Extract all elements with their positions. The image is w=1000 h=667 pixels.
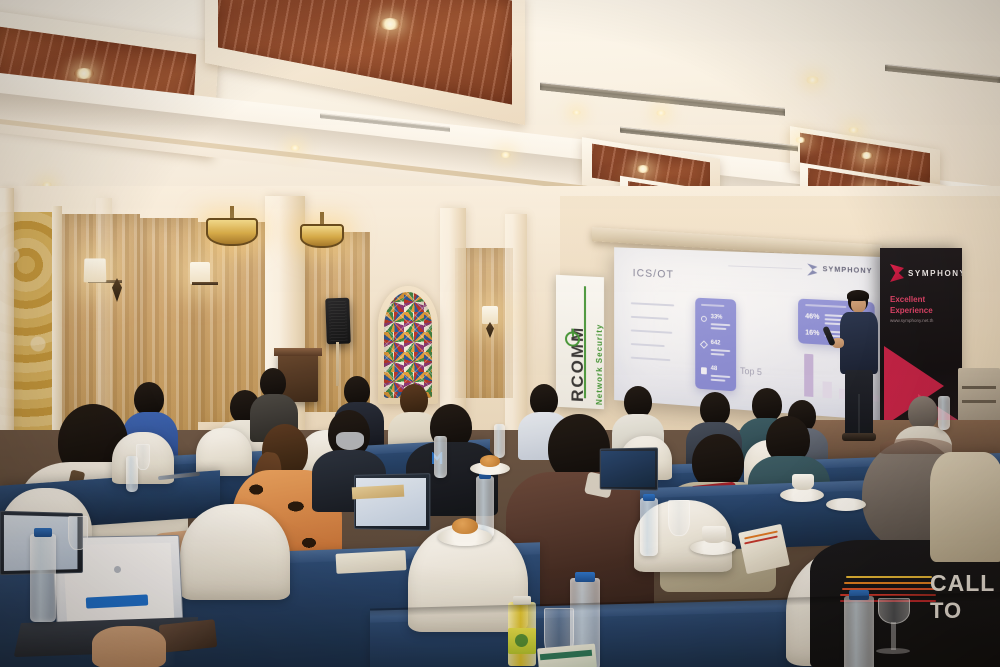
- pastry-1: [452, 518, 478, 534]
- slide-ghost-line-1: [631, 302, 674, 306]
- water-bottle-4[interactable]: [844, 596, 874, 667]
- water-bottle-8[interactable]: [938, 396, 950, 430]
- conference-room-photo: ICS/OT SYMPHONY 33% 642 48: [0, 0, 1000, 667]
- water-bottle-1-cap[interactable]: [34, 528, 52, 537]
- laptop-front-left-cursor-dot: [114, 566, 121, 573]
- slide-bar-2: [823, 381, 832, 398]
- water-bottle-5[interactable]: [640, 498, 658, 556]
- pastry-2: [480, 455, 500, 467]
- wall-column-5: [505, 214, 527, 434]
- downlight-11: [572, 110, 581, 115]
- stat-label-bar-3a: [711, 375, 731, 378]
- notepad-mid[interactable]: [336, 550, 407, 574]
- slide-symphony-logo-icon: [806, 262, 818, 277]
- attendee-far-11-head: [908, 396, 938, 430]
- front-left-attendee-hand: [92, 626, 166, 667]
- saucer-right-1: [780, 488, 824, 502]
- drinking-glass-2-base: [876, 648, 910, 654]
- banner-rcomm: RCOMM Network Security: [556, 275, 604, 410]
- laptop-rear-screen-content: [601, 451, 655, 487]
- slide-chart-caption: Top 5: [740, 366, 762, 377]
- presenter-hair: [847, 290, 869, 301]
- slide-title: ICS/OT: [633, 267, 674, 281]
- chair-far-1: [196, 428, 252, 476]
- stat-value-3: 48: [711, 366, 718, 372]
- slide-header-rule: [728, 265, 802, 269]
- chair-front-1: [180, 504, 290, 600]
- call-to-stripe-2: [844, 582, 934, 584]
- stat-label-bar-3b: [711, 379, 726, 382]
- downlight-14: [290, 145, 300, 151]
- banner-rcomm-green-rule: [584, 286, 586, 398]
- hanging-lantern-2: [300, 224, 344, 248]
- downlight-7: [806, 76, 819, 84]
- banner-symphony-url: www.symphony.net.th: [890, 318, 933, 323]
- mid-attendee-1-mask: [336, 432, 364, 450]
- presenter-leg-split: [858, 394, 860, 436]
- downlight-3: [636, 165, 650, 173]
- banner-rcomm-tagline: Network Security: [595, 323, 604, 405]
- downlight-12: [848, 127, 859, 133]
- water-bottle-7[interactable]: [494, 424, 505, 458]
- slide-ghost-line-3: [631, 329, 672, 333]
- slide-ghost-line-4: [631, 343, 665, 347]
- sconce-shade-left: [84, 258, 107, 282]
- water-bottle-6[interactable]: [434, 436, 447, 478]
- wall-column-1: [0, 188, 14, 456]
- banner-symphony-brand: SYMPHONY: [908, 269, 962, 278]
- stat-value-2: 642: [711, 340, 721, 347]
- presenter: [832, 290, 888, 442]
- coffee-cup-1[interactable]: [792, 474, 814, 490]
- drinking-glass-4[interactable]: [68, 516, 88, 550]
- banner-symphony-logo-icon: [890, 264, 904, 282]
- water-bottle-3-cap[interactable]: [575, 572, 595, 582]
- sconce-shade-center: [190, 262, 210, 284]
- attendee-far-9-head: [700, 392, 730, 426]
- slide-ghost-line-5: [631, 357, 671, 362]
- curtain-center: [198, 222, 272, 422]
- handout-paper[interactable]: [738, 524, 790, 574]
- slide-bar-1: [804, 354, 813, 397]
- water-bottle-1[interactable]: [30, 534, 56, 622]
- mosaic-arch-panel: [384, 292, 432, 398]
- presenter-shoes: [842, 433, 876, 441]
- sconce-arm-center: [192, 282, 218, 285]
- drinking-glass-5[interactable]: [136, 444, 150, 470]
- callout-value-2: 16%: [805, 329, 819, 337]
- stat-label-bar-1a: [711, 323, 731, 326]
- av-rack-panel-line-2: [962, 400, 996, 403]
- slide-ghost-line-2: [631, 316, 669, 320]
- attendee-far-8-head: [752, 388, 782, 422]
- wall-loudspeaker: [325, 298, 351, 345]
- stat-icon-3: [701, 367, 707, 374]
- drinking-glass-2-stem: [891, 622, 896, 650]
- stat-icon-2: [700, 340, 708, 348]
- banner-symphony-tagline: Excellent Experience: [890, 294, 956, 316]
- attendee-far-1-head: [134, 382, 164, 416]
- drinking-glass-3[interactable]: [668, 500, 690, 536]
- sconce-shade-right: [482, 306, 498, 324]
- coffee-cup-2[interactable]: [702, 526, 726, 543]
- call-to-attendee-cap-line: [880, 438, 952, 454]
- speaker-stand-cable: [336, 342, 339, 386]
- stat-label-bar-1b: [711, 327, 727, 329]
- water-bottle-5-cap[interactable]: [643, 494, 655, 501]
- juice-bottle-label-mark: [515, 634, 528, 647]
- downlight-4: [860, 152, 873, 159]
- gold-panel-frame: [52, 206, 62, 456]
- downlight-10: [500, 152, 511, 158]
- khaki-attendee-body: [930, 452, 1000, 562]
- banner-rcomm-power-tick: [572, 329, 574, 337]
- downlight-1: [74, 68, 94, 79]
- slide-stat-card: 33% 642 48: [695, 298, 736, 392]
- stat-label-bar-2a: [711, 349, 731, 352]
- av-rack-panel-line: [962, 386, 996, 389]
- downlight-2: [379, 18, 401, 30]
- saucer-right-3: [826, 498, 866, 511]
- stat-card-heading-bar: [701, 304, 724, 307]
- callout-value-1: 46%: [805, 313, 819, 321]
- stat-label-bar-2b: [711, 353, 725, 355]
- slide-symphony-logo-text: SYMPHONY: [823, 266, 873, 275]
- hanging-lantern-1: [206, 218, 258, 246]
- presenter-blazer: [840, 312, 878, 374]
- stat-value-1: 33%: [711, 314, 723, 321]
- lectern-top: [274, 348, 322, 356]
- smartphone[interactable]: [159, 619, 218, 653]
- call-to-stripe-1: [846, 576, 932, 578]
- downlight-9: [795, 137, 806, 143]
- downlight-8: [656, 110, 666, 116]
- stat-icon-1: [701, 316, 707, 322]
- call-to-shirt-text-to: TO: [930, 598, 962, 624]
